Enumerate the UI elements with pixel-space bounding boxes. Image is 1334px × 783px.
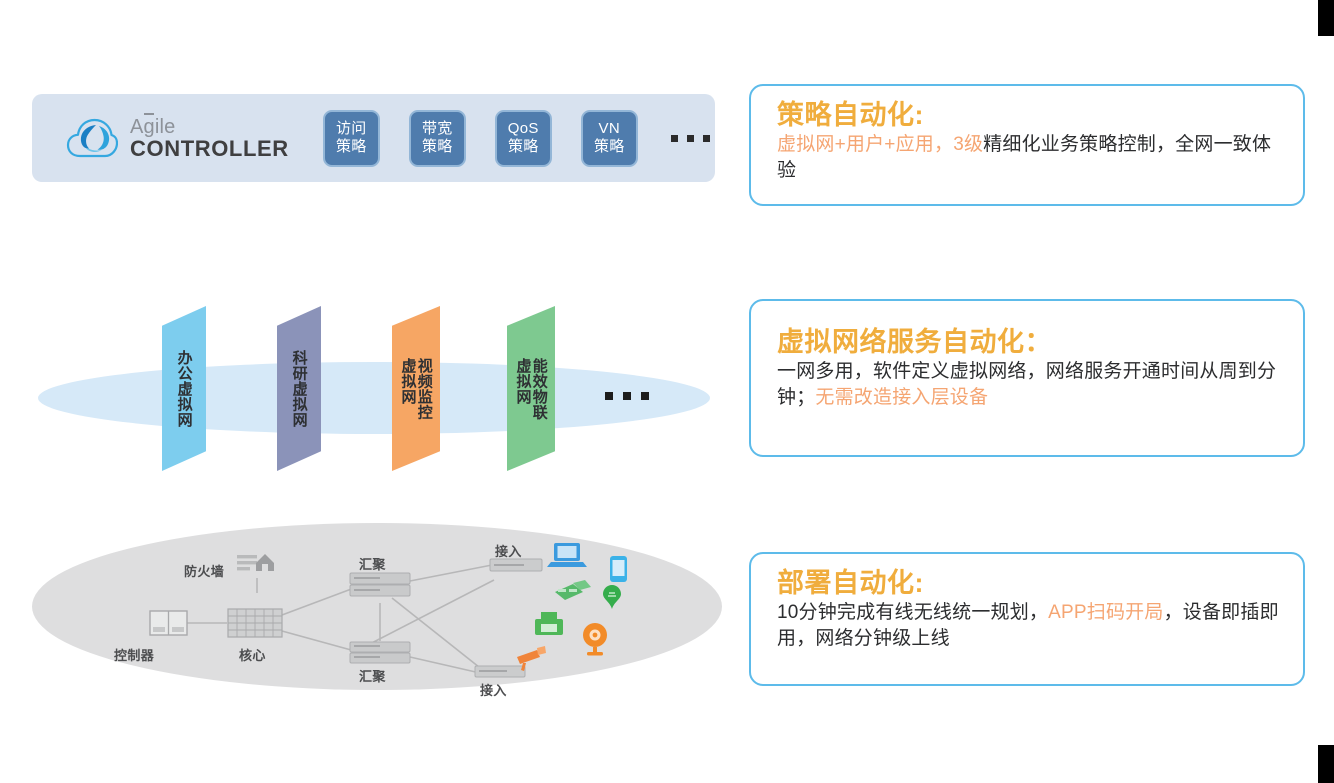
endpoint-ap-icon [555, 580, 591, 600]
policy-chip-bandwidth[interactable]: 带宽 策略 [409, 110, 466, 167]
policy-chip-row: 访问 策略 带宽 策略 QoS 策略 VN 策略 [323, 110, 710, 167]
topology-label-firewall: 防火墙 [184, 561, 224, 580]
topology-label-core: 核心 [239, 645, 266, 664]
virtual-network-diagram: 办公虚拟网 科研虚拟网 视频监控 虚拟网 能效物联 虚拟网 [32, 300, 722, 495]
chip-line-2: 策略 [508, 139, 539, 156]
policy-chip-qos[interactable]: QoS 策略 [495, 110, 552, 167]
callout-body-highlight: APP扫码开局 [1048, 602, 1163, 623]
agile-controller-panel: Agile CONTROLLER 访问 策略 带宽 策略 QoS 策略 VN 策… [32, 94, 715, 182]
endpoint-printer-icon [535, 612, 563, 635]
vn-slab-energy-iot: 能效物联 虚拟网 [507, 306, 555, 471]
vn-more-ellipsis-icon [605, 392, 649, 400]
core-switch-node-icon [228, 609, 282, 637]
endpoint-webcam-icon [583, 623, 607, 656]
vn-slab-label: 能效物联 [532, 358, 547, 420]
chip-line-2: 策略 [336, 139, 367, 156]
logo-brand-bottom: CONTROLLER [130, 138, 289, 160]
endpoint-laptop-icon [547, 543, 587, 567]
agile-controller-logo: Agile CONTROLLER [66, 115, 289, 161]
topology-graphics [32, 523, 722, 690]
policy-chip-vn[interactable]: VN 策略 [581, 110, 638, 167]
aggregation-upper-node-icon [350, 573, 410, 596]
callout-body-plain: 10分钟完成有线无线统一规划， [777, 602, 1048, 623]
callout-body: 10分钟完成有线无线统一规划，APP扫码开局，设备即插即用，网络分钟级上线 [777, 600, 1281, 651]
callout-title: 虚拟网络服务自动化： [777, 327, 1281, 357]
vn-slab-label: 办公虚拟网 [176, 350, 191, 428]
top-right-black-bar [1318, 0, 1334, 36]
policy-more-ellipsis-icon [671, 135, 710, 142]
chip-line-1: 访问 [336, 121, 367, 138]
callout-deployment-automation: 部署自动化: 10分钟完成有线无线统一规划，APP扫码开局，设备即插即用，网络分… [749, 552, 1305, 686]
callout-title: 策略自动化: [777, 100, 1281, 130]
vn-slab-label: 虚拟网 [400, 358, 415, 420]
callout-body: 虚拟网+用户+应用，3级精细化业务策略控制，全网一致体验 [777, 132, 1281, 183]
access-lower-node-icon [475, 666, 525, 677]
controller-node-icon [150, 611, 187, 635]
cloud-swirl-icon [66, 115, 118, 161]
vn-slab-video-surveillance: 视频监控 虚拟网 [392, 306, 440, 471]
callout-body-highlight: 虚拟网+用户+应用，3级 [777, 134, 983, 155]
callout-policy-automation: 策略自动化: 虚拟网+用户+应用，3级精细化业务策略控制，全网一致体验 [749, 84, 1305, 206]
firewall-node-icon [237, 554, 274, 571]
vn-slab-label: 虚拟网 [515, 358, 530, 420]
callout-body-highlight: 无需改造接入层设备 [815, 387, 988, 408]
endpoint-tablet-icon [610, 556, 627, 582]
topology-label-agg-lower: 汇聚 [359, 666, 386, 685]
policy-chip-access[interactable]: 访问 策略 [323, 110, 380, 167]
physical-topology-diagram: 控制器 防火墙 核心 汇聚 汇聚 接入 接入 [32, 523, 722, 690]
callout-title: 部署自动化: [777, 568, 1281, 598]
access-upper-node-icon [490, 559, 542, 571]
vn-slab-office: 办公虚拟网 [162, 306, 206, 471]
vn-slab-label: 视频监控 [417, 358, 432, 420]
vn-slab-research: 科研虚拟网 [277, 306, 321, 471]
bottom-right-black-bar [1318, 745, 1334, 783]
vn-slab-label: 科研虚拟网 [291, 350, 306, 428]
logo-brand-top: Agile [130, 117, 289, 137]
endpoint-sensor-icon [603, 585, 621, 609]
aggregation-lower-node-icon [350, 642, 410, 663]
topology-label-access-lower: 接入 [480, 680, 507, 699]
chip-line-2: 策略 [594, 139, 625, 156]
callout-virtual-network-service-automation: 虚拟网络服务自动化： 一网多用，软件定义虚拟网络，网络服务开通时间从周到分钟；无… [749, 299, 1305, 457]
callout-body: 一网多用，软件定义虚拟网络，网络服务开通时间从周到分钟；无需改造接入层设备 [777, 359, 1281, 410]
topology-label-controller: 控制器 [114, 645, 154, 664]
chip-line-1: 带宽 [422, 121, 453, 138]
topology-label-access-upper: 接入 [495, 541, 522, 560]
chip-line-2: 策略 [422, 139, 453, 156]
chip-line-1: VN [599, 121, 620, 138]
chip-line-1: QoS [508, 121, 539, 138]
topology-label-agg-upper: 汇聚 [359, 554, 386, 573]
